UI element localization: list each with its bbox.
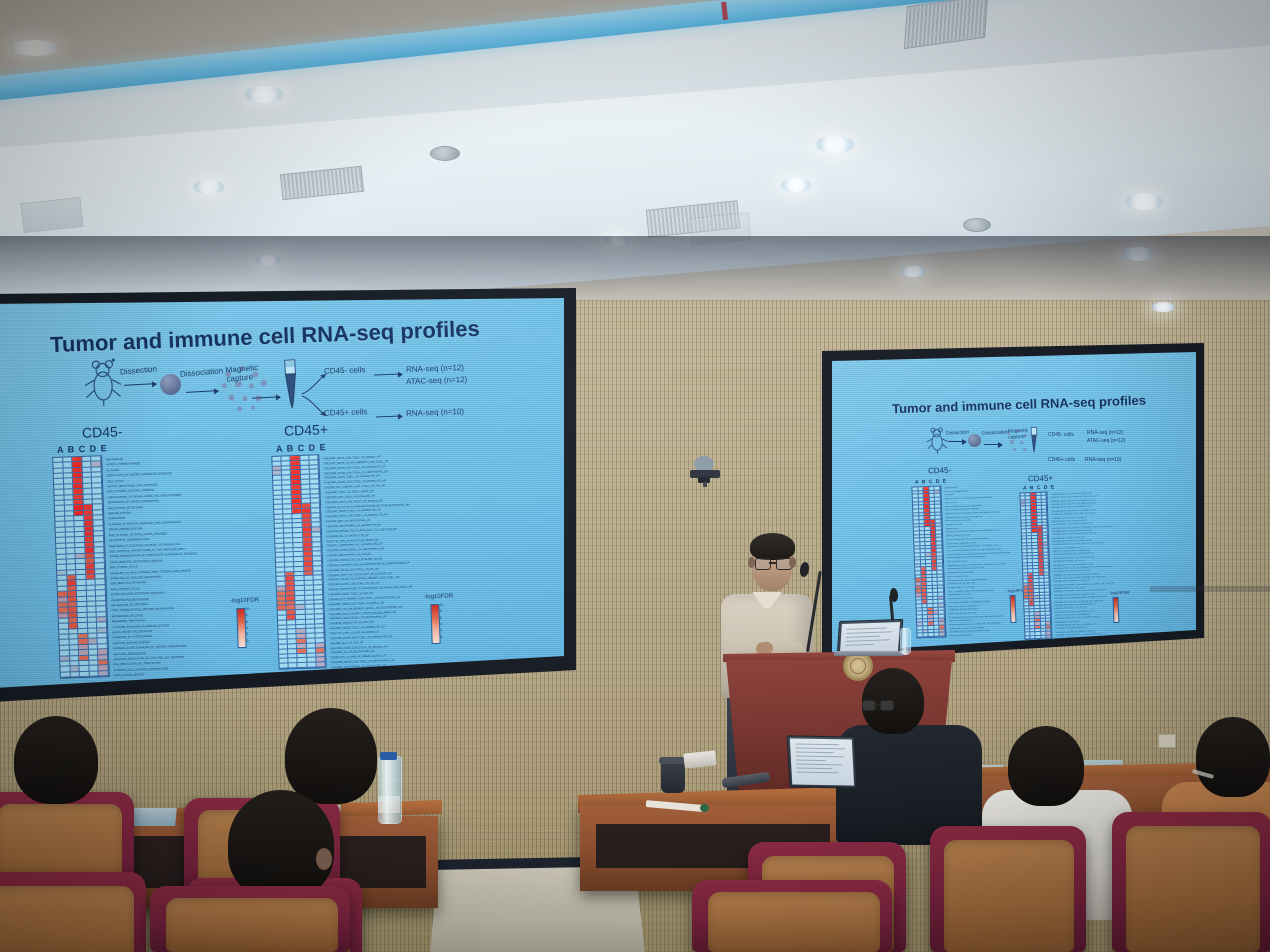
output-atacseq-12: ATAC-seq (n=12) [406,375,468,386]
seat-pad [708,892,880,952]
downlight [10,40,60,56]
seat-pad [1126,826,1260,952]
workflow-arrow [376,416,402,418]
microphone-head-icon [700,804,709,812]
heatmap-col-headers-right: A B C D E [1023,484,1055,491]
heatmap-cd45-pos-mirror [1019,492,1052,641]
presenter-ear [748,557,755,568]
workflow-arrow [124,383,156,386]
ceiling-speaker-icon [430,146,460,161]
projection-screen-left: Tumor and immune cell RNA-seq profiles D… [0,298,564,688]
heatmap-cell [289,663,298,668]
workflow-step-dissociation: Dissociation [180,366,224,379]
legend-colorbar-right [1113,597,1120,623]
legend-ticks-left: 1086420 [245,608,250,646]
downlight [193,180,225,194]
heatmap-cell [316,662,325,667]
lecture-hall-photo: Tumor and immune cell RNA-seq profiles D… [0,0,1270,952]
panel-label-cd45-neg: CD45- [82,423,123,440]
heatmap-cell [280,664,289,669]
legend-title-right: -log10FDR [1110,590,1130,596]
presenter-hair [750,533,795,560]
audience-mid-left-head [285,708,377,804]
branch-cd45-neg-label: CD45- cells [1048,432,1074,438]
panel-label-cd45-pos: CD45+ [1028,474,1053,484]
tumor-icon [160,374,181,395]
heatmap-cell [1046,635,1051,638]
heatmap-cell [89,671,99,677]
magnet-tube-icon [1028,426,1040,456]
bottle-cap [380,752,397,760]
audience-front-left-head [14,716,98,804]
heatmap-cell [940,633,946,637]
workflow-arrow [374,374,402,376]
heatmap-cell [70,672,80,678]
heatmap-cell [61,672,71,678]
heatmap-row-labels-left: METABOLISMMITOTIC_PROMETAPHASEM_PHASERES… [106,453,244,679]
heatmap-cell [298,663,307,668]
glasses-icon [755,558,791,569]
legend-title-right: -log10FDR [424,593,453,600]
slide-title: Tumor and immune cell RNA-seq profiles [50,316,481,358]
audience-ear [316,848,332,870]
mouse-icon [79,357,127,407]
heatmap-cd45-pos [271,454,326,670]
workflow-arrow [186,390,218,393]
laptop-screen [790,738,854,785]
heatmap-cd45-neg-mirror [911,486,946,639]
tumor-icon [968,434,981,447]
downlight [780,178,812,192]
workflow-step-dissection: Dissection [946,429,969,436]
projection-screen-right: Tumor and immune cell RNA-seq profiles D… [832,352,1196,652]
heatmap-row-labels-right: GSE22886_NAIVE_CD4_TCELL_VS_NKCELL_UPGSE… [323,451,520,671]
slide-title-mirror: Tumor and immune cell RNA-seq profiles [892,393,1146,417]
desk-monitor-glow [129,808,177,826]
heatmap-cell [80,671,90,677]
output-rnaseq-12: RNA-seq (n=12) [406,363,464,374]
wall-outlet-plate [1158,734,1176,748]
seat-pad [944,840,1074,952]
output-rnaseq-10: RNA-seq (n=10) [1085,457,1121,463]
output-atacseq-12: ATAC-seq (n=12) [1087,438,1125,444]
heatmap-cd45-neg [52,455,110,679]
downlight [244,86,284,103]
audience-center-left-head [228,790,334,898]
legend-tick: 0 [440,636,444,642]
bottle-label [378,796,400,813]
branch-cd45-neg-label: CD45- cells [324,365,366,375]
ceiling-speaker-icon [963,218,991,232]
presenter-ear [789,557,796,568]
heatmap-row-labels-right-mirror: GSE22886_NAIVE_CD4_TCELL_VS_NKCELL_UPGSE… [1050,490,1159,641]
ceiling-camera-icon [686,455,726,489]
downlight [815,136,855,153]
heatmap-cell [307,663,316,668]
audience-right-tan-head [1196,717,1270,797]
laptop-base [833,651,905,656]
legend-title-left: -log10FDR [230,597,259,604]
glasses-icon [862,700,892,710]
laptop-screen [840,622,900,653]
panel-label-cd45-neg: CD45- [928,466,951,476]
legend-tick: 0 [246,640,250,646]
heatmap-col-headers-left: A B C D E [57,443,108,455]
ceiling-access-panel [21,197,84,233]
coffee-cup [661,761,685,793]
water-bottle[interactable] [378,756,402,824]
seat-pad [166,898,338,952]
downlight [1124,193,1164,210]
laptop-audience[interactable] [787,735,858,788]
heatmap-col-headers-right: A B C D E [276,442,327,454]
branch-cd45-pos-label: CD45+ cells [324,407,368,418]
water-bottle [900,628,911,655]
output-rnaseq-10: RNA-seq (n=10) [406,407,464,418]
workflow-arrow [948,441,966,442]
heatmap-col-headers-left: A B C D E [915,478,947,485]
workflow-arrow [984,444,1002,445]
seat-pad [0,886,134,952]
audience-white-shirt-head [1008,726,1084,806]
workflow-step-magnetic-capture: Magnetic capture [225,362,266,383]
panel-label-cd45-pos: CD45+ [284,421,329,439]
output-rnaseq-12: RNA-seq (n=12) [1087,430,1123,436]
workflow-step-dissection: Dissection [120,364,158,376]
branch-cd45-pos-label: CD45+ cells [1048,457,1075,463]
legend-colorbar-left [1010,595,1017,623]
wall-trim [1150,586,1270,592]
heatmap-cell [99,671,109,677]
